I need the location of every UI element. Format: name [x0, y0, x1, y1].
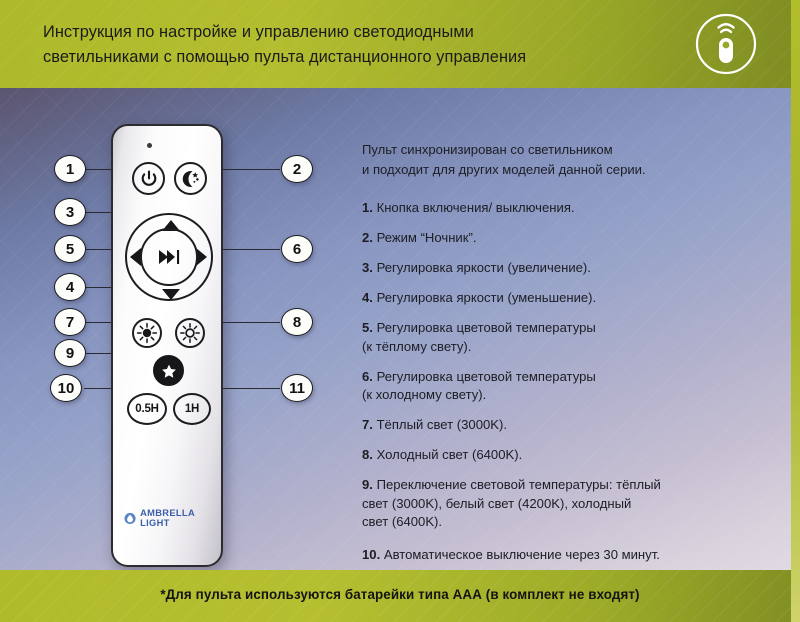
callout-8[interactable]: 8 [281, 308, 313, 336]
right-edge-stripe [791, 0, 800, 622]
list-item: 10. Автоматическое выключение через 30 м… [362, 546, 692, 565]
item-text: Регулировка яркости (увеличение). [377, 260, 591, 275]
ir-led-indicator [147, 143, 152, 148]
item-text-cont: (к холодному свету). [362, 386, 692, 405]
list-item: 8. Холодный свет (6400K). [362, 446, 692, 465]
item-number: 3. [362, 260, 373, 275]
callout-7[interactable]: 7 [54, 308, 86, 336]
brand-name: AMBRELLA LIGHT [140, 508, 221, 528]
item-text: Холодный свет (6400K). [377, 447, 523, 462]
item-text-cont: (к тёплому свету). [362, 338, 692, 357]
page-title-line1: Инструкция по настройке и управлению све… [43, 20, 653, 45]
remote-control-signal-icon [694, 12, 758, 76]
list-item: 1. Кнопка включения/ выключения. [362, 199, 692, 218]
instructions-panel: Пульт синхронизирован со светильником и … [362, 140, 692, 606]
play-pause-icon [154, 248, 184, 266]
item-text: Переключение световой температуры: тёплы… [377, 477, 661, 492]
item-text: Тёплый свет (3000K). [377, 417, 507, 432]
timer-one-hour-label: 1H [185, 403, 199, 415]
moon-stars-icon [181, 169, 201, 189]
timer-half-hour-button[interactable]: 0.5H [127, 393, 167, 425]
item-number: 1. [362, 200, 373, 215]
star-filled-icon [160, 362, 178, 380]
sun-filled-icon [136, 322, 158, 344]
item-text: Кнопка включения/ выключения. [377, 200, 575, 215]
item-number: 8. [362, 447, 373, 462]
callout-10[interactable]: 10 [50, 374, 82, 402]
item-text: Регулировка яркости (уменьшение). [377, 290, 597, 305]
header-banner: Инструкция по настройке и управлению све… [0, 0, 800, 88]
list-item: 6. Регулировка цветовой температуры (к х… [362, 368, 692, 405]
intro-line1: Пульт синхронизирован со светильником [362, 140, 692, 160]
power-button[interactable] [132, 162, 165, 195]
remote-control-illustration: 0.5H 1H AMBRELLA LIGHT [111, 124, 223, 567]
leader-line-11 [213, 388, 280, 389]
callout-5[interactable]: 5 [54, 235, 86, 263]
callout-11[interactable]: 11 [281, 374, 313, 402]
callout-4[interactable]: 4 [54, 273, 86, 301]
item-number: 6. [362, 369, 373, 384]
intro-line2: и подходит для других моделей данной сер… [362, 160, 692, 180]
dpad-down-button[interactable] [162, 289, 180, 300]
callout-9[interactable]: 9 [54, 339, 86, 367]
item-text: Регулировка цветовой температуры [377, 320, 596, 335]
page-title: Инструкция по настройке и управлению све… [43, 20, 653, 70]
item-number: 4. [362, 290, 373, 305]
item-number: 7. [362, 417, 373, 432]
warm-light-button[interactable] [132, 318, 162, 348]
item-text: Автоматическое выключение через 30 минут… [384, 547, 660, 562]
list-item: 2. Режим “Ночник”. [362, 229, 692, 248]
power-icon [140, 170, 158, 188]
list-item: 9. Переключение световой температуры: тё… [362, 476, 692, 532]
sun-outline-icon [179, 322, 201, 344]
instruction-infographic: Инструкция по настройке и управлению све… [0, 0, 800, 622]
ambrella-logo-icon [124, 512, 136, 525]
brand-logo: AMBRELLA LIGHT [124, 508, 221, 528]
color-temp-toggle-button[interactable] [153, 355, 184, 386]
footer-banner: *Для пульта используются батарейки типа … [0, 570, 800, 622]
item-number: 10. [362, 547, 380, 562]
callout-3[interactable]: 3 [54, 198, 86, 226]
timer-one-hour-button[interactable]: 1H [173, 393, 211, 425]
list-item: 4. Регулировка яркости (уменьшение). [362, 289, 692, 308]
item-text: Режим “Ночник”. [377, 230, 477, 245]
item-number: 2. [362, 230, 373, 245]
intro-text: Пульт синхронизирован со светильником и … [362, 140, 692, 179]
page-title-line2: светильниками с помощью пульта дистанцио… [43, 45, 653, 70]
item-text-cont2: свет (6400K). [362, 513, 692, 532]
timer-half-hour-label: 0.5H [135, 403, 159, 415]
callout-1[interactable]: 1 [54, 155, 86, 183]
item-text: Регулировка цветовой температуры [377, 369, 596, 384]
item-text-cont: свет (3000K), белый свет (4200K), холодн… [362, 495, 692, 514]
callout-6[interactable]: 6 [281, 235, 313, 263]
cool-light-button[interactable] [175, 318, 205, 348]
battery-note: *Для пульта используются батарейки типа … [0, 587, 800, 602]
list-item: 7. Тёплый свет (3000K). [362, 416, 692, 435]
item-number: 5. [362, 320, 373, 335]
list-item: 3. Регулировка яркости (увеличение). [362, 259, 692, 278]
night-mode-button[interactable] [174, 162, 207, 195]
play-pause-button[interactable] [140, 228, 198, 286]
callout-2[interactable]: 2 [281, 155, 313, 183]
item-number: 9. [362, 477, 373, 492]
list-item: 5. Регулировка цветовой температуры (к т… [362, 319, 692, 356]
